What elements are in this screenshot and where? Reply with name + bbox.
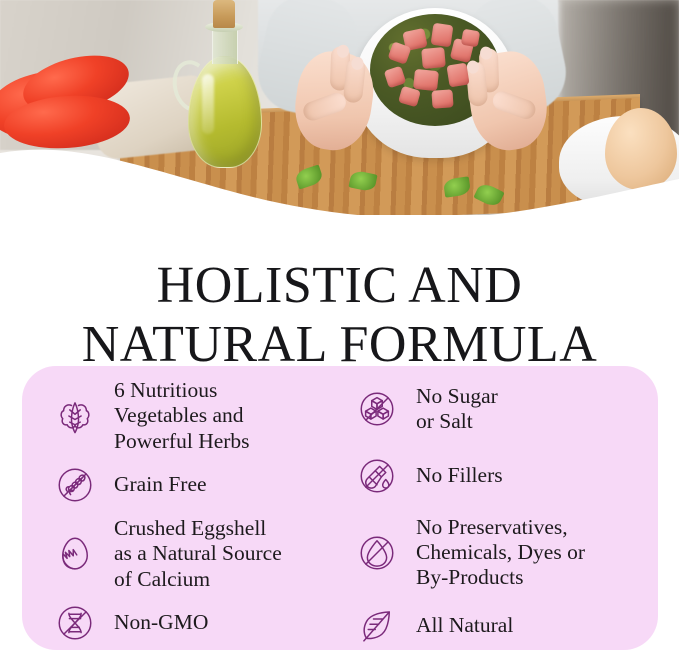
red-bell-pepper — [0, 56, 156, 152]
feature-grain-free: Grain Free — [50, 460, 340, 510]
feature-label: Non-GMO — [114, 610, 208, 635]
feature-label: 6 Nutritious Vegetables and Powerful Her… — [114, 378, 250, 454]
features-right-column: No Sugar or Salt No Fillers — [340, 366, 658, 650]
no-droplet-icon — [352, 528, 402, 578]
feature-label: Crushed Eggshell as a Natural Source of … — [114, 516, 282, 592]
feature-no-fillers: No Fillers — [352, 451, 658, 501]
feature-label: No Preservatives, Chemicals, Dyes or By-… — [416, 515, 585, 591]
title-line-1: HOLISTIC AND — [0, 257, 679, 316]
bottle-cork — [213, 0, 235, 28]
feature-label: Grain Free — [114, 472, 207, 497]
no-fillers-dropper-icon — [352, 451, 402, 501]
feature-vegetables: 6 Nutritious Vegetables and Powerful Her… — [50, 378, 340, 454]
feature-label: No Sugar or Salt — [416, 384, 498, 435]
no-grain-icon — [50, 460, 100, 510]
feature-all-natural: All Natural — [352, 601, 658, 651]
features-panel: 6 Nutritious Vegetables and Powerful Her… — [22, 366, 658, 650]
cracked-eggshell-icon — [50, 529, 100, 579]
features-left-column: 6 Nutritious Vegetables and Powerful Her… — [22, 366, 340, 650]
hero-photo — [0, 0, 679, 215]
feature-non-gmo: Non-GMO — [50, 598, 340, 648]
no-gmo-dna-icon — [50, 598, 100, 648]
olive-oil-bottle — [172, 0, 272, 200]
egg — [605, 108, 677, 190]
infographic-page: HOLISTIC AND NATURAL FORMULA 6 Nutritiou… — [0, 0, 679, 659]
leafy-vegetable-icon — [50, 391, 100, 441]
no-sugar-cubes-icon — [352, 384, 402, 434]
page-title: HOLISTIC AND NATURAL FORMULA — [0, 257, 679, 375]
feature-label: All Natural — [416, 613, 513, 638]
feature-no-preservatives: No Preservatives, Chemicals, Dyes or By-… — [352, 515, 658, 591]
feature-no-sugar: No Sugar or Salt — [352, 384, 658, 435]
feature-label: No Fillers — [416, 463, 503, 488]
leaf-icon — [352, 601, 402, 651]
hero-scene — [0, 0, 679, 215]
feature-eggshell: Crushed Eggshell as a Natural Source of … — [50, 516, 340, 592]
